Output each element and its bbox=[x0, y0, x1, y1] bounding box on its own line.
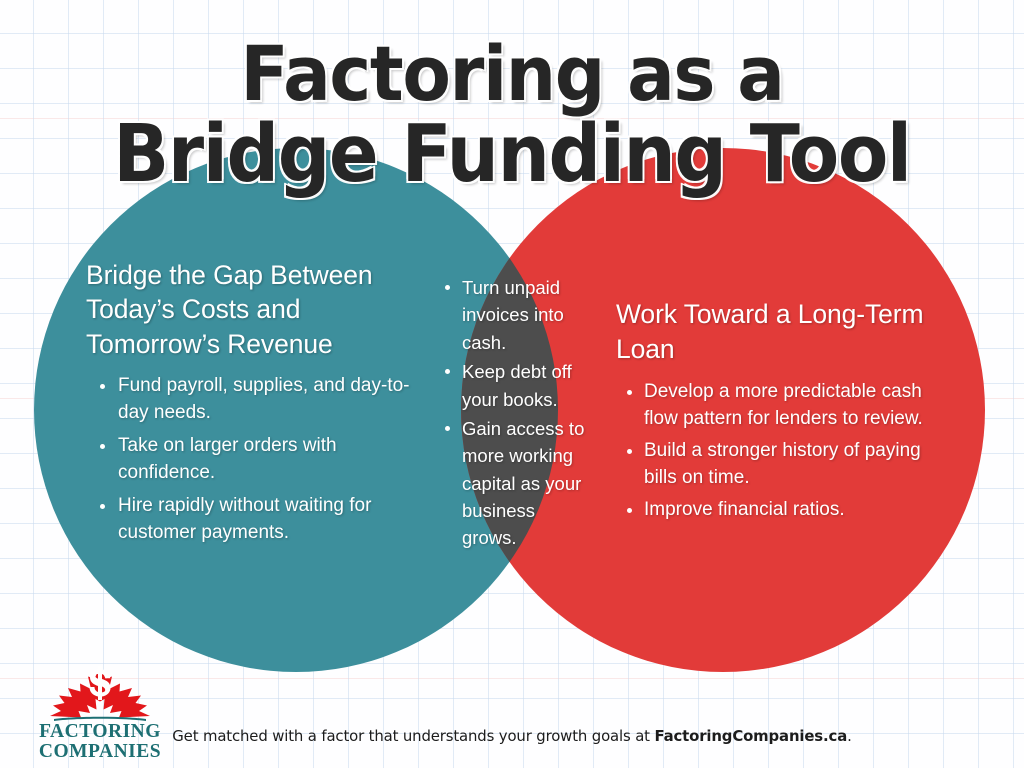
list-item: Take on larger orders with confidence. bbox=[118, 433, 426, 487]
left-circle-heading: Bridge the Gap Between Today’s Costs and… bbox=[86, 258, 426, 361]
maple-leaf-dollar-icon bbox=[44, 666, 156, 724]
list-item: Keep debt off your books. bbox=[462, 358, 589, 413]
list-item-label: Hire rapidly without waiting for custome… bbox=[118, 495, 371, 543]
footer-tagline: Get matched with a factor that understan… bbox=[20, 727, 1003, 745]
right-circle-heading: Work Toward a Long-Term Loan bbox=[616, 297, 946, 366]
overlap-bullet-list: Turn unpaid invoices into cash. Keep deb… bbox=[437, 274, 589, 552]
footer-text-before: Get matched with a factor that understan… bbox=[172, 727, 654, 745]
bullet-dot-icon bbox=[627, 508, 632, 513]
list-item: Hire rapidly without waiting for custome… bbox=[118, 493, 426, 547]
list-item-label: Fund payroll, supplies, and day-to-day n… bbox=[118, 375, 410, 423]
bullet-dot-icon bbox=[627, 449, 632, 454]
right-circle-bullet-list: Develop a more predictable cash flow pat… bbox=[616, 379, 946, 524]
list-item-label: Gain access to more working capital as y… bbox=[462, 418, 584, 549]
overlap-content: Turn unpaid invoices into cash. Keep deb… bbox=[437, 274, 589, 554]
list-item: Build a stronger history of paying bills… bbox=[644, 438, 946, 492]
bullet-dot-icon bbox=[445, 285, 450, 290]
list-item: Gain access to more working capital as y… bbox=[462, 415, 589, 552]
list-item: Develop a more predictable cash flow pat… bbox=[644, 379, 946, 433]
footer-brand-link[interactable]: FactoringCompanies.ca bbox=[654, 727, 847, 745]
bullet-dot-icon bbox=[100, 504, 105, 509]
list-item-label: Take on larger orders with confidence. bbox=[118, 435, 337, 483]
list-item-label: Build a stronger history of paying bills… bbox=[644, 440, 921, 488]
list-item-label: Keep debt off your books. bbox=[462, 361, 572, 409]
left-circle-bullet-list: Fund payroll, supplies, and day-to-day n… bbox=[86, 373, 426, 547]
list-item: Turn unpaid invoices into cash. bbox=[462, 274, 589, 356]
bullet-dot-icon bbox=[100, 384, 105, 389]
right-circle-content: Work Toward a Long-Term Loan Develop a m… bbox=[616, 297, 946, 529]
list-item-label: Develop a more predictable cash flow pat… bbox=[644, 381, 923, 429]
bullet-dot-icon bbox=[100, 444, 105, 449]
infographic-canvas: Factoring as a Bridge Funding Tool Bridg… bbox=[0, 0, 1024, 768]
list-item-label: Improve financial ratios. bbox=[644, 499, 845, 520]
bullet-dot-icon bbox=[445, 426, 450, 431]
bullet-dot-icon bbox=[627, 390, 632, 395]
list-item: Fund payroll, supplies, and day-to-day n… bbox=[118, 373, 426, 427]
footer-text-after: . bbox=[847, 727, 852, 745]
list-item-label: Turn unpaid invoices into cash. bbox=[462, 277, 564, 353]
left-circle-content: Bridge the Gap Between Today’s Costs and… bbox=[86, 258, 426, 553]
bullet-dot-icon bbox=[445, 369, 450, 374]
list-item: Improve financial ratios. bbox=[644, 497, 946, 524]
